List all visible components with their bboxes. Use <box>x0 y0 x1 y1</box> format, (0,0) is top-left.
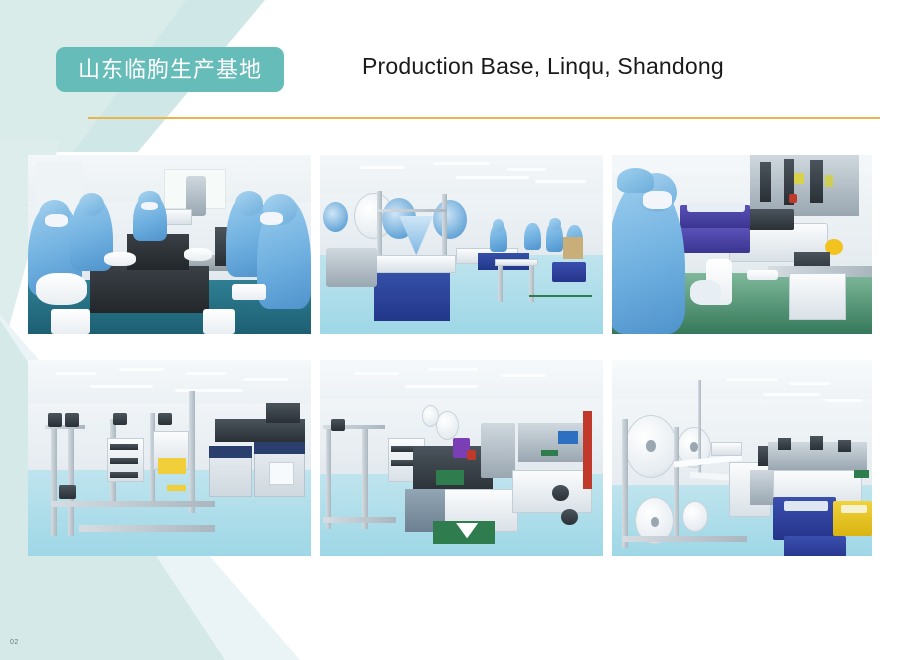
page-number: 02 <box>10 639 19 646</box>
gallery-photo-4 <box>28 360 311 556</box>
photo-gallery <box>28 155 872 555</box>
gallery-photo-3 <box>612 155 872 334</box>
gallery-photo-2 <box>320 155 603 334</box>
page-title-english: Production Base, Linqu, Shandong <box>362 53 724 80</box>
header-divider-rule <box>88 117 880 119</box>
gallery-photo-6 <box>612 360 872 556</box>
slide-canvas: 山东临朐生产基地 Production Base, Linqu, Shandon… <box>0 0 900 660</box>
gallery-photo-1 <box>28 155 311 334</box>
slide-header: 山东临朐生产基地 Production Base, Linqu, Shandon… <box>0 0 900 130</box>
title-badge: 山东临朐生产基地 <box>56 47 284 92</box>
gallery-photo-5 <box>320 360 603 556</box>
title-badge-label: 山东临朐生产基地 <box>78 59 262 81</box>
